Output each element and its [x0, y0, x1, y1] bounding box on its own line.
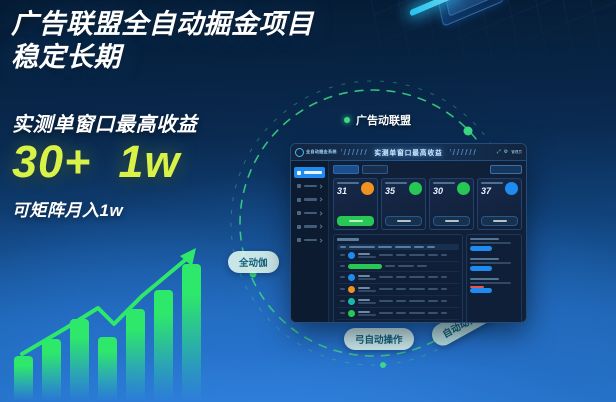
nav-label	[304, 225, 317, 227]
side-panel-2[interactable]	[470, 278, 518, 293]
row-name	[358, 253, 376, 258]
fullscreen-icon[interactable]: ⤢	[497, 149, 501, 155]
status-badge	[361, 182, 374, 195]
dashboard-window[interactable]: 全自动掘金系统 实测单窗口最高收益 ⤢ ⚙ 管理员 31353037	[290, 143, 527, 323]
dashboard-side-panels[interactable]	[466, 234, 522, 323]
poster-root: 广告联盟全自动掘金项目 稳定长期 实测单窗口最高收益 30+ 1w 可矩阵月入1…	[0, 0, 616, 402]
sidebar-item-4[interactable]	[294, 221, 325, 232]
row-name	[358, 275, 376, 280]
stat-card-button[interactable]	[385, 216, 422, 226]
side-panel-title	[470, 278, 499, 280]
chart-bar	[14, 356, 33, 400]
chart-bar	[42, 339, 61, 400]
side-panel-line	[470, 242, 511, 244]
stat-card-button[interactable]	[433, 216, 470, 226]
dashboard-toolbar[interactable]	[333, 165, 522, 174]
row-name	[358, 311, 376, 316]
side-panel-title	[470, 238, 499, 240]
table-title	[337, 238, 359, 241]
avatar	[348, 310, 355, 317]
table-row[interactable]	[337, 320, 459, 323]
dashboard-lower	[333, 234, 522, 323]
side-panel-button[interactable]	[470, 266, 492, 271]
row-status-pill	[348, 264, 382, 269]
nav-icon	[297, 238, 301, 242]
chart-bar	[182, 264, 201, 400]
status-badge	[409, 182, 422, 195]
table-row[interactable]	[337, 250, 459, 262]
side-panel-1[interactable]	[470, 258, 518, 271]
nav-icon	[297, 171, 301, 175]
nav-label	[304, 239, 317, 241]
row-name	[358, 287, 376, 292]
chart-bar	[98, 337, 117, 400]
toolbar-chip-running[interactable]	[362, 165, 388, 174]
stat-card-label	[433, 182, 455, 184]
status-badge	[505, 182, 518, 195]
stat-card-button[interactable]	[481, 216, 518, 226]
orbit-label-left: 全动伽	[228, 251, 279, 273]
stat-card-button[interactable]	[337, 216, 374, 226]
dashboard-header: 全自动掘金系统 实测单窗口最高收益 ⤢ ⚙ 管理员	[291, 144, 526, 161]
toolbar-start-all-button[interactable]	[490, 165, 522, 174]
growth-chart	[14, 236, 230, 400]
dashboard-header-controls[interactable]: ⤢ ⚙ 管理员	[497, 149, 522, 155]
dashboard-main: 31353037	[329, 161, 526, 323]
sidebar-item-1[interactable]	[294, 181, 325, 192]
stat-card-label	[385, 182, 407, 184]
stat-card-0[interactable]: 31	[333, 178, 378, 230]
sidebar-item-5[interactable]	[294, 235, 325, 246]
nav-label	[304, 212, 317, 214]
chart-bar	[126, 309, 145, 400]
sidebar-item-3[interactable]	[294, 208, 325, 219]
subtitle: 实测单窗口最高收益	[12, 108, 197, 137]
stat-card-1[interactable]: 35	[381, 178, 426, 230]
side-panel-button[interactable]	[470, 246, 492, 251]
green-dot-icon	[344, 117, 350, 123]
orbit-label-bottom: 弓自动操作	[344, 328, 414, 350]
nav-icon	[297, 184, 301, 188]
nav-label	[304, 185, 317, 187]
stat-card-3[interactable]: 37	[477, 178, 522, 230]
gear-icon[interactable]: ⚙	[504, 149, 508, 155]
page-title: 广告联盟全自动掘金项目 稳定长期	[11, 8, 411, 74]
dashboard-title: 实测单窗口最高收益	[291, 147, 526, 157]
nav-icon	[297, 211, 301, 215]
stat-card-label	[481, 182, 503, 184]
table-row[interactable]	[337, 308, 459, 320]
chevron-right-icon	[318, 238, 322, 242]
highlight-number: 30+ 1w	[12, 136, 180, 188]
side-panel-title	[470, 258, 499, 260]
chevron-right-icon	[318, 211, 322, 215]
nav-label	[304, 198, 317, 200]
table-row[interactable]	[337, 284, 459, 296]
chevron-right-icon	[318, 184, 322, 188]
dashboard-user[interactable]: 管理员	[511, 150, 522, 154]
sidebar-item-0[interactable]	[294, 167, 325, 178]
chart-bar	[154, 290, 173, 400]
nav-label	[304, 171, 323, 173]
orbit-label-top-text: 广告动联盟	[356, 115, 411, 127]
sidebar-item-2[interactable]	[294, 194, 325, 205]
dashboard-sidebar[interactable]	[291, 161, 329, 323]
chart-bar	[70, 319, 89, 400]
side-panel-0[interactable]	[470, 238, 518, 251]
table-row[interactable]	[337, 296, 459, 308]
chevron-right-icon	[318, 197, 322, 201]
headline-line-1: 广告联盟全自动掘金项目	[11, 9, 314, 39]
nav-icon	[297, 198, 301, 202]
window-table[interactable]	[333, 234, 463, 323]
avatar	[348, 286, 355, 293]
tagline: 可矩阵月入1w	[12, 196, 123, 221]
table-row[interactable]	[337, 272, 459, 284]
table-body	[337, 250, 459, 323]
nav-icon	[297, 225, 301, 229]
stat-card-label	[337, 182, 359, 184]
headline-line-2: 稳定长期	[11, 41, 411, 74]
avatar	[348, 322, 355, 323]
avatar	[348, 252, 355, 259]
stat-card-2[interactable]: 30	[429, 178, 474, 230]
side-panel-line	[470, 282, 511, 284]
row-name	[358, 299, 376, 304]
toolbar-chip-all-windows[interactable]	[333, 165, 359, 174]
chart-bars	[14, 250, 230, 400]
orbit-label-top: 广告动联盟	[344, 112, 411, 128]
table-row[interactable]	[337, 262, 459, 272]
side-panel-button[interactable]	[470, 288, 492, 293]
chevron-right-icon	[318, 224, 322, 228]
dashboard-body: 31353037	[291, 161, 526, 323]
status-badge	[457, 182, 470, 195]
avatar	[348, 298, 355, 305]
side-panel-line	[470, 262, 511, 264]
stat-cards: 31353037	[333, 178, 522, 230]
avatar	[348, 274, 355, 281]
